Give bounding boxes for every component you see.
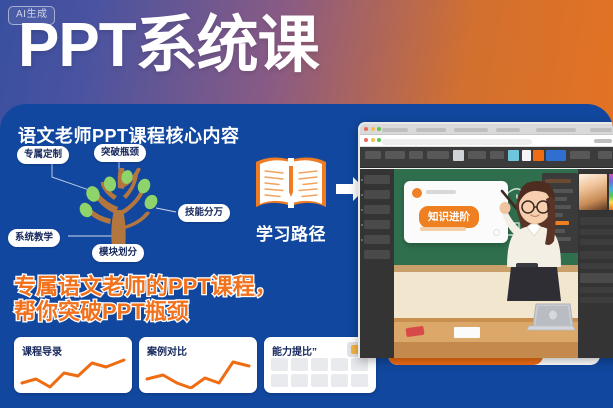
address-bar[interactable] (382, 139, 532, 145)
properties-panel[interactable] (578, 169, 613, 358)
laptop-icon (526, 302, 576, 332)
close-dot-icon[interactable] (364, 127, 368, 131)
layer-item[interactable] (364, 235, 390, 244)
color-swatch[interactable] (453, 150, 464, 161)
desk-front-panel (394, 342, 578, 358)
line-chart-icon (143, 357, 253, 389)
layer-bullet-icon (361, 179, 363, 181)
window-titlebar (360, 124, 613, 135)
color-swatch[interactable] (522, 150, 531, 161)
mini-card-title: 案例对比 (147, 343, 187, 358)
panel-row[interactable] (580, 263, 613, 269)
color-hue-strip[interactable] (609, 174, 613, 210)
grid-cell (311, 374, 328, 387)
panel-row[interactable] (580, 239, 613, 245)
window-tab[interactable] (496, 128, 520, 132)
toolbar-button[interactable] (598, 151, 612, 159)
layers-panel[interactable] (360, 169, 394, 358)
tree-label-jineng-fenwan: 技能分万 (178, 204, 230, 222)
minimize-dot-icon[interactable] (371, 138, 375, 142)
panel-section-header[interactable] (580, 217, 613, 225)
headline: 专属语文老师的PPT课程， 帮你突破PPT瓶颈 (14, 274, 277, 324)
slide-logo-text (426, 190, 456, 194)
layer-bullet-icon (361, 209, 363, 211)
mini-card-case-comparison[interactable]: 案例对比 (139, 337, 257, 393)
maximize-dot-icon[interactable] (377, 127, 381, 131)
paper-sheet-icon (454, 327, 480, 338)
skill-tree-diagram: 专属定制 突破瓶颈 技能分万 系统教学 模块划分 (6, 144, 246, 254)
layer-item[interactable] (364, 190, 390, 199)
panel-row[interactable] (580, 297, 613, 303)
panel-section-header[interactable] (580, 251, 613, 259)
browser-menu-icon[interactable] (594, 139, 612, 143)
slide-badge: 知识进阶 (418, 205, 480, 229)
grid-cell (331, 358, 348, 371)
minimize-dot-icon[interactable] (371, 127, 375, 131)
toolbar-button[interactable] (365, 151, 381, 159)
traffic-lights[interactable] (364, 127, 381, 131)
study-path-group: 学习路径 (248, 152, 356, 257)
color-swatch[interactable] (546, 150, 566, 161)
grid-row (271, 374, 369, 387)
headline-line-2: 帮你突破PPT瓶颈 (14, 299, 277, 324)
color-swatch[interactable] (533, 150, 544, 161)
toolbar-button[interactable] (409, 151, 423, 159)
window-tab[interactable] (382, 128, 408, 132)
tree-label-tupo-pingjing: 突破瓶颈 (94, 144, 146, 162)
open-book-icon (252, 152, 330, 214)
mini-card-title: 能力提比” (272, 343, 317, 358)
tree-label-zhuanshu-dingzhi: 专属定制 (17, 146, 69, 164)
slide-text-line (420, 227, 466, 231)
study-path-label: 学习路径 (248, 220, 334, 245)
toolbar-button[interactable] (490, 151, 504, 159)
mini-card-title: 课程导录 (22, 343, 62, 358)
grid-cell (291, 374, 308, 387)
grid-cell (271, 374, 288, 387)
panel-row[interactable] (580, 287, 613, 293)
maximize-dot-icon[interactable] (377, 138, 381, 142)
window-controls[interactable] (590, 128, 612, 132)
toolbar-button[interactable] (427, 151, 449, 159)
layer-bullet-icon (361, 239, 363, 241)
classroom-illustration: 知识进阶 (394, 169, 578, 358)
grid-cell (311, 358, 328, 371)
layer-item[interactable] (364, 175, 390, 184)
layer-bullet-icon (361, 224, 363, 226)
grid-cell (331, 374, 348, 387)
color-swatch[interactable] (508, 150, 519, 161)
content-panel: 语文老师PPT课程核心内容 (0, 104, 613, 408)
grid-cell (351, 374, 368, 387)
window-tab[interactable] (416, 128, 446, 132)
close-dot-icon[interactable] (364, 138, 368, 142)
tree-label-mokuai-huafen: 模块划分 (92, 244, 144, 262)
tree-label-xitong-jiaoxue: 系统教学 (8, 229, 60, 247)
app-window-screenshot: 知识进阶 (358, 122, 613, 358)
toolbar-button[interactable] (570, 151, 590, 159)
grid-cell (351, 358, 368, 371)
layer-item[interactable] (364, 205, 390, 214)
window-tab[interactable] (454, 128, 488, 132)
teacher-illustration (486, 175, 578, 311)
editor-toolbar (360, 147, 613, 168)
slide-logo-icon (412, 188, 422, 198)
editor-body: 知识进阶 (360, 169, 613, 358)
page-title: PPT系统课 (18, 8, 319, 84)
grid-row (271, 358, 369, 371)
grid-icon (271, 358, 369, 390)
window-title-text (536, 128, 576, 132)
grid-cell (291, 358, 308, 371)
panel-row-active[interactable] (580, 273, 613, 283)
toolbar-button[interactable] (385, 151, 405, 159)
layer-item[interactable] (364, 250, 390, 259)
layer-bullet-icon (361, 194, 363, 196)
ai-generated-badge: AI生成 (8, 6, 55, 25)
toolbar-button[interactable] (468, 151, 486, 159)
browser-toolbar (360, 135, 613, 147)
browser-traffic-lights[interactable] (364, 138, 381, 142)
color-picker-gradient[interactable] (579, 174, 607, 210)
grid-cell (271, 358, 288, 371)
line-chart-icon (18, 357, 128, 389)
headline-line-1: 专属语文老师的PPT课程， (14, 274, 277, 299)
layer-item[interactable] (364, 220, 390, 229)
mini-card-course-index[interactable]: 课程导录 (14, 337, 132, 393)
panel-row[interactable] (580, 229, 613, 235)
poster-root: AI生成 PPT系统课 语文老师PPT课程核心内容 (0, 0, 613, 408)
